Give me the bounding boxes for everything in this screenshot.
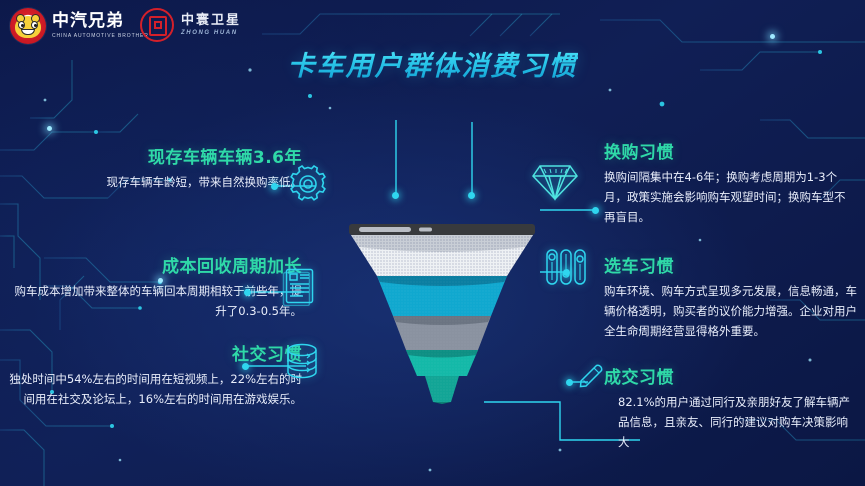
logo-secondary-cn: 中寰卫星 <box>181 14 241 28</box>
block-body: 独处时间中54%左右的时间用在短视频上，22%左右的时间用在社交及论坛上，16%… <box>6 370 302 410</box>
block-heading: 成交习惯 <box>604 363 856 388</box>
block-body: 现存车辆车龄短，带来自然换购率低。 <box>10 173 302 193</box>
mascot-logo-icon <box>10 8 46 44</box>
logo-secondary-en: ZHONG HUAN <box>181 30 241 36</box>
logo-zhonghuan-satellite: 中寰卫星 ZHONG HUAN <box>140 8 241 42</box>
block-heading: 换购习惯 <box>604 138 856 163</box>
accent-glow-dot <box>47 126 52 131</box>
page-title: 卡车用户群体消费习惯 <box>288 44 578 83</box>
block-existing-vehicle-age: 现存车辆车辆3.6年 现存车辆车龄短，带来自然换购率低。 <box>10 143 302 193</box>
database-icon <box>283 342 321 382</box>
block-body: 购车成本增加带来整体的车辆回本周期相较于前些年，提升了0.3-0.5年。 <box>6 282 302 322</box>
diamond-icon <box>531 160 579 204</box>
document-icon <box>281 266 317 306</box>
block-heading: 社交习惯 <box>6 340 302 365</box>
block-cost-recovery-cycle: 成本回收周期加长 购车成本增加带来整体的车辆回本周期相较于前些年，提升了0.3-… <box>6 252 302 322</box>
block-replacement-habits: 换购习惯 换购间隔集中在4-6年；换购考虑周期为1-3个月，政策实施会影响购车观… <box>604 138 856 227</box>
infographic-canvas: 中汽兄弟 CHINA AUTOMOTIVE BROTHER 中寰卫星 ZHONG… <box>0 0 865 486</box>
connector-dot <box>244 289 251 296</box>
connector-dot <box>563 269 570 276</box>
block-heading: 成本回收周期加长 <box>6 252 302 277</box>
seal-stamp-icon <box>140 8 174 42</box>
logo-primary-cn: 中汽兄弟 <box>52 13 149 31</box>
accent-glow-dot <box>158 278 163 283</box>
block-body: 换购间隔集中在4-6年；换购考虑周期为1-3个月，政策实施会影响购车观望时间；换… <box>604 168 856 227</box>
pen-icon <box>578 363 604 389</box>
block-body: 82.1%的用户通过同行及亲朋好友了解车辆产品信息，且亲友、同行的建议对购车决策… <box>604 393 856 452</box>
connector-dot <box>392 192 399 199</box>
connector-dot <box>242 363 249 370</box>
title-banner: 卡车用户群体消费习惯 <box>0 44 865 83</box>
block-heading: 现存车辆车辆3.6年 <box>10 143 302 168</box>
logo-china-automotive-brother: 中汽兄弟 CHINA AUTOMOTIVE BROTHER <box>10 8 149 44</box>
gear-icon <box>287 163 329 205</box>
connector-dot <box>271 183 278 190</box>
block-transaction-habits: 成交习惯 82.1%的用户通过同行及亲朋好友了解车辆产品信息，且亲友、同行的建议… <box>604 363 856 452</box>
block-body: 购车环境、购车方式呈现多元发展，信息畅通，车辆价格透明，购买者的议价能力增强。企… <box>604 282 860 341</box>
accent-glow-dot <box>770 34 775 39</box>
block-vehicle-selection-habits: 选车习惯 购车环境、购车方式呈现多元发展，信息畅通，车辆价格透明，购买者的议价能… <box>604 252 860 341</box>
consumption-funnel-graphic <box>347 224 537 404</box>
connector-dot <box>592 207 599 214</box>
logo-primary-en: CHINA AUTOMOTIVE BROTHER <box>52 33 149 39</box>
block-social-habits: 社交习惯 独处时间中54%左右的时间用在短视频上，22%左右的时间用在社交及论坛… <box>6 340 302 410</box>
connector-dot <box>566 379 573 386</box>
connector-dot <box>468 192 475 199</box>
block-heading: 选车习惯 <box>604 252 860 277</box>
